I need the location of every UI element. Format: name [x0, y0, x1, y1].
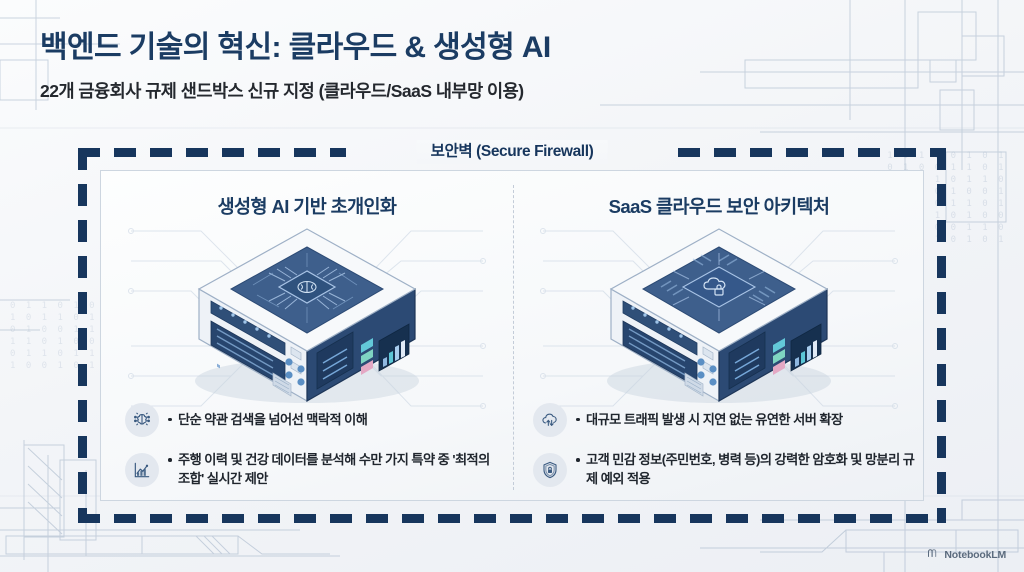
bullet-text: 고객 민감 정보(주민번호, 병력 등)의 강력한 암호화 및 망분리 규제 예… [576, 451, 915, 488]
bullet-item: 대규모 트래픽 발생 시 지연 없는 유연한 서버 확장 [533, 403, 915, 437]
firewall-border-top-right [678, 148, 946, 157]
bullet-item: 고객 민감 정보(주민번호, 병력 등)의 강력한 암호화 및 망분리 규제 예… [533, 451, 915, 488]
bullet-text: 대규모 트래픽 발생 시 지연 없는 유연한 서버 확장 [576, 411, 843, 430]
firewall-label: 보안벽 (Secure Firewall) [417, 140, 608, 164]
page-subtitle: 22개 금융회사 규제 샌드박스 신규 지정 (클라우드/SaaS 내부망 이용… [40, 78, 551, 103]
page-title: 백엔드 기술의 혁신: 클라우드 & 생성형 AI [40, 30, 551, 66]
firewall-border-top-left [78, 148, 346, 157]
panel-title-saas-cloud-security: SaaS 클라우드 보안 아키텍처 [513, 193, 924, 219]
content-card: 생성형 AI 기반 초개인화 [100, 170, 924, 501]
panel-title-generative-ai: 생성형 AI 기반 초개인화 [101, 193, 513, 219]
bullet-item: 주행 이력 및 건강 데이터를 분석해 수만 가지 특약 중 '최적의 조합' … [125, 451, 499, 488]
firewall-boundary: 보안벽 (Secure Firewall) [78, 148, 946, 523]
bullet-text: 단순 약관 검색을 넘어선 맥락적 이해 [168, 411, 367, 430]
firewall-border-right [937, 148, 946, 523]
watermark: NotebookLM [927, 547, 1006, 562]
server-illustration-saas-cloud [569, 223, 869, 408]
bullet-list-saas-cloud-security: 대규모 트래픽 발생 시 지연 없는 유연한 서버 확장 고객 민감 정보(주민… [533, 403, 915, 501]
bullet-item: 단순 약관 검색을 넘어선 맥락적 이해 [125, 403, 499, 437]
cloud-sync-icon [533, 403, 567, 437]
bullet-text: 주행 이력 및 건강 데이터를 분석해 수만 가지 특약 중 '최적의 조합' … [168, 451, 499, 488]
panel-saas-cloud-security: SaaS 클라우드 보안 아키텍처 [513, 171, 924, 501]
firewall-border-bottom [78, 514, 946, 523]
bar-chart-trend-icon [125, 453, 159, 487]
panel-generative-ai: 생성형 AI 기반 초개인화 [101, 171, 513, 501]
header: 백엔드 기술의 혁신: 클라우드 & 생성형 AI 22개 금융회사 규제 샌드… [40, 30, 551, 103]
slide-root: 1 0 1 1 0 1 0 1 0 1 0 0 1 1 0 1 1 1 0 1 … [0, 0, 1024, 572]
server-illustration-generative-ai [157, 223, 457, 408]
brain-circuit-icon [125, 403, 159, 437]
firewall-border-left [78, 148, 87, 523]
watermark-label: NotebookLM [944, 549, 1006, 561]
bullet-list-generative-ai: 단순 약관 검색을 넘어선 맥락적 이해 [125, 403, 499, 501]
shield-lock-icon [533, 453, 567, 487]
notebooklm-logo-icon [927, 547, 939, 562]
